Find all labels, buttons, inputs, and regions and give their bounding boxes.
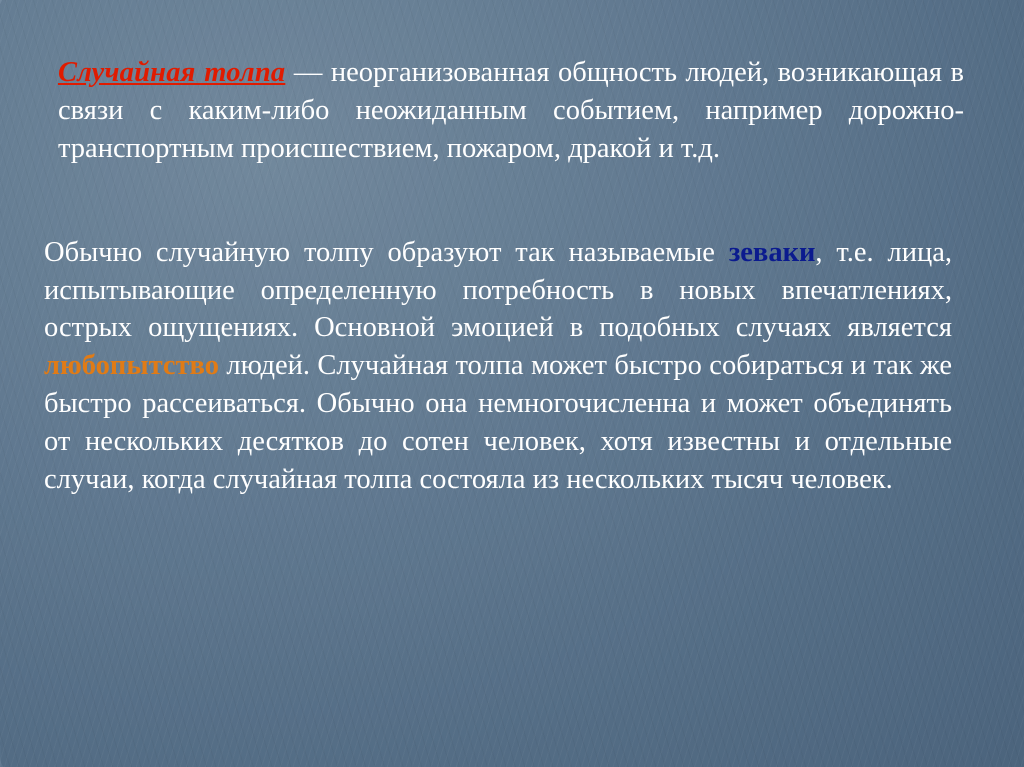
description-text-part-1: Обычно случайную толпу образуют так назы… (44, 237, 729, 268)
highlight-curiosity: любопытство (44, 350, 219, 381)
highlight-onlookers: зеваки (729, 237, 816, 268)
slide-content: Случайная толпа — неорганизованная общно… (0, 0, 1024, 499)
description-paragraph: Обычно случайную толпу образуют так назы… (44, 234, 964, 499)
slide: Случайная толпа — неорганизованная общно… (0, 0, 1024, 767)
definition-paragraph: Случайная толпа — неорганизованная общно… (44, 54, 964, 168)
definition-term: Случайная толпа (58, 57, 285, 88)
